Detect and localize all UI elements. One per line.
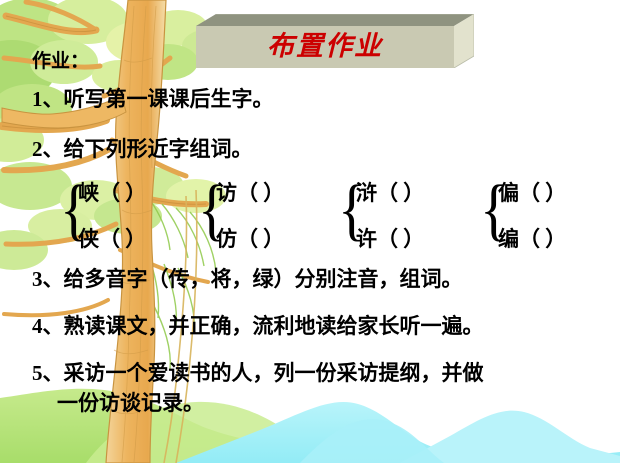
assignment-item-3: 3、给多音字（传，将，绿）分别注音，组词。 (32, 268, 463, 291)
character-group-3: { 浒（ ） 许（ ） (338, 180, 474, 252)
title-box-front-face: 布置作业 (196, 26, 454, 68)
assignment-item-5-line-1: 5、采访一个爱读书的人，列一份采访提纲，并做 (32, 362, 484, 385)
character-blank-row: 访（ ） (216, 180, 284, 206)
character-blank-row: 峡（ ） (78, 180, 146, 206)
character-group-2: { 访（ ） 仿（ ） (198, 180, 332, 252)
character-blank-row: 偏（ ） (498, 180, 566, 206)
assignment-item-2: 2、给下列形近字组词。 (32, 138, 253, 161)
similar-character-groups: { 峡（ ） 侠（ ） { 访（ ） 仿（ ） { 浒（ ） 许（ ） { (60, 180, 610, 256)
character-blank-row: 侠（ ） (78, 226, 146, 252)
curly-brace-icon: { (60, 174, 76, 259)
character-group-4: { 偏（ ） 编（ ） (480, 180, 592, 252)
title-box: 布置作业 (196, 14, 474, 68)
page-title: 布置作业 (267, 33, 383, 62)
character-group-1: { 峡（ ） 侠（ ） (60, 180, 192, 252)
curly-brace-icon: { (198, 174, 214, 259)
assignment-item-1: 1、听写第一课课后生字。 (32, 88, 274, 111)
assignment-item-4: 4、熟读课文，并正确，流利地读给家长听一遍。 (32, 315, 484, 338)
assignment-item-5-line-2: 一份访谈记录。 (57, 392, 204, 415)
character-blank-row: 许（ ） (356, 226, 424, 252)
curly-brace-icon: { (338, 174, 354, 259)
mountains-cyan (176, 402, 620, 463)
curly-brace-icon: { (480, 174, 496, 259)
character-blank-row: 编（ ） (498, 226, 566, 252)
character-blank-row: 浒（ ） (356, 180, 424, 206)
homework-label: 作业： (32, 52, 89, 73)
slide-canvas: 布置作业 作业： 1、听写第一课课后生字。 2、给下列形近字组词。 { 峡（ ）… (0, 0, 620, 463)
character-blank-row: 仿（ ） (216, 226, 284, 252)
